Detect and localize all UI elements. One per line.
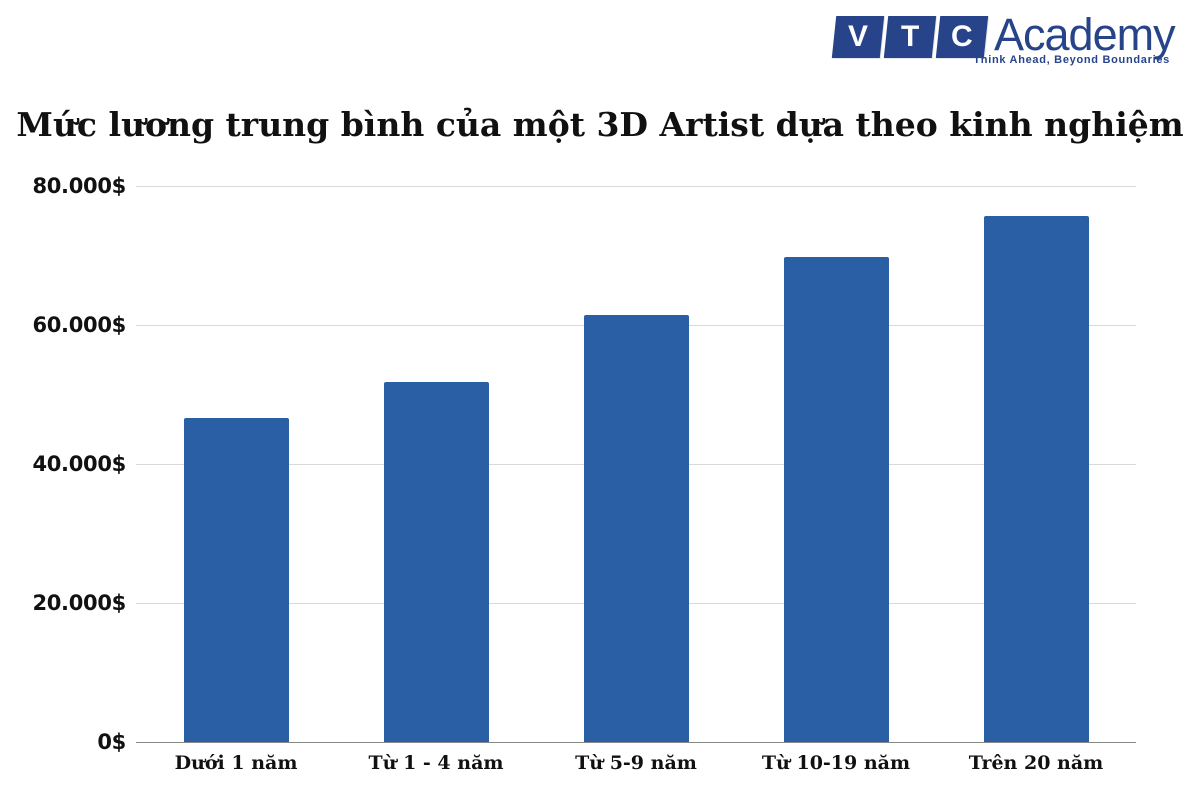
x-axis-tick-label: Từ 5-9 năm xyxy=(536,752,736,774)
bar[interactable] xyxy=(984,216,1089,742)
y-axis-tick-label: 0$ xyxy=(6,730,126,754)
bar[interactable] xyxy=(384,382,489,742)
x-axis-tick-label: Từ 10-19 năm xyxy=(736,752,936,774)
y-axis-tick-label: 40.000$ xyxy=(6,452,126,476)
plot-area xyxy=(136,186,1136,742)
bar[interactable] xyxy=(184,418,289,742)
x-axis-tick-label: Trên 20 năm xyxy=(936,752,1136,774)
y-axis-tick-label: 20.000$ xyxy=(6,591,126,615)
y-axis-tick-label: 80.000$ xyxy=(6,174,126,198)
bar-chart: 0$20.000$40.000$60.000$80.000$Dưới 1 năm… xyxy=(0,0,1200,800)
y-axis-tick-label: 60.000$ xyxy=(6,313,126,337)
x-axis-tick-label: Dưới 1 năm xyxy=(136,752,336,774)
bar[interactable] xyxy=(584,315,689,742)
x-axis-tick-label: Từ 1 - 4 năm xyxy=(336,752,536,774)
bar[interactable] xyxy=(784,257,889,742)
gridline xyxy=(136,186,1136,187)
axis-baseline xyxy=(136,742,1136,743)
